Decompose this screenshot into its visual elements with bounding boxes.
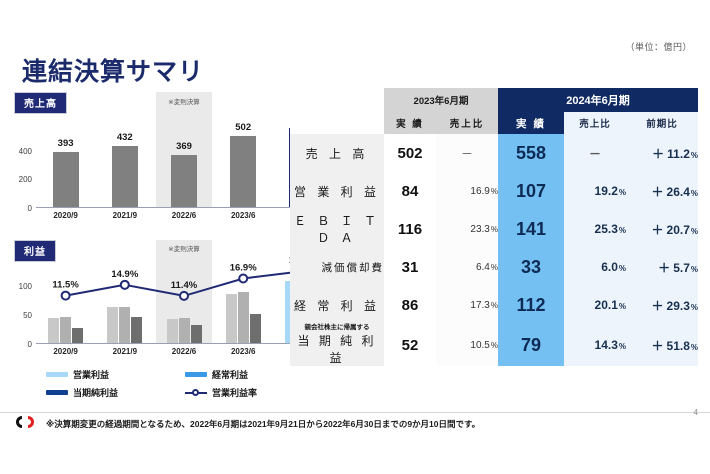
row-label: 営 業 利 益 bbox=[290, 172, 384, 210]
header-new-period: 2024年6月期 bbox=[498, 88, 698, 112]
percent-sign: % bbox=[691, 151, 698, 160]
operating-margin-label: 11.4% bbox=[171, 280, 198, 291]
row-label-note: 親会社株主に帰属する bbox=[290, 324, 384, 331]
sales-x-tick: 2023/6 bbox=[220, 211, 266, 220]
yoy-sign: ＋ bbox=[658, 261, 670, 275]
page-number: 4 bbox=[694, 408, 698, 417]
row-label: Ｅ Ｂ Ｉ Ｔ Ｄ Ａ bbox=[290, 210, 384, 248]
profit-y-tick: 0 bbox=[8, 340, 32, 349]
operating-margin-marker bbox=[239, 274, 247, 282]
profit-bar-line-chart: ※変則決算0501002020/92021/92022/62023/62024/… bbox=[36, 268, 332, 344]
sales-x-tick: 2021/9 bbox=[102, 211, 148, 220]
value: 16.9 bbox=[470, 186, 489, 197]
legend-swatch-icon bbox=[46, 390, 68, 395]
header-new-actual: 実 績 bbox=[498, 112, 564, 134]
cell-new-rate: 20.1% bbox=[564, 286, 626, 324]
legend-item: 営業利益率 bbox=[185, 386, 316, 399]
value: 10.5 bbox=[470, 340, 489, 351]
cell-new-rate: 14.3% bbox=[564, 324, 626, 366]
percent-sign: % bbox=[619, 342, 626, 351]
yoy-value: 29.3 bbox=[667, 299, 690, 313]
yoy-value: 20.7 bbox=[667, 223, 690, 237]
cell-new-yoy: ＋29.3% bbox=[626, 286, 698, 324]
yoy-value: 51.8 bbox=[667, 339, 690, 353]
legend-swatch-icon bbox=[46, 372, 68, 377]
legend-item: 営業利益 bbox=[46, 368, 177, 381]
cell-new-yoy: ＋5.7% bbox=[626, 248, 698, 286]
sales-y-tick: 200 bbox=[8, 175, 32, 184]
sales-chart-plot: ※変則決算02004003932020/94322021/93692022/65… bbox=[36, 122, 332, 208]
legend-label: 当期純利益 bbox=[73, 386, 118, 399]
yoy-sign: ＋ bbox=[652, 223, 664, 237]
cell-old-rate: 10.5% bbox=[436, 324, 498, 366]
operating-margin-label: 16.9% bbox=[230, 262, 257, 273]
cell-old-actual: 31 bbox=[384, 248, 436, 286]
yoy-sign: ＋ bbox=[652, 299, 664, 313]
value: 23.3 bbox=[470, 224, 489, 235]
cell-new-actual: 107 bbox=[498, 172, 564, 210]
row-label: 経 常 利 益 bbox=[290, 286, 384, 324]
cell-new-rate: 25.3% bbox=[564, 210, 626, 248]
header-old-actual: 実 績 bbox=[384, 112, 436, 134]
profit-y-tick: 100 bbox=[8, 282, 32, 291]
cell-new-rate: 19.2% bbox=[564, 172, 626, 210]
header-new-yoy: 前期比 bbox=[626, 112, 698, 134]
yoy-sign: ＋ bbox=[652, 185, 664, 199]
sales-bar-value: 432 bbox=[102, 132, 148, 143]
value: 25.3 bbox=[595, 222, 618, 236]
sales-x-axis bbox=[36, 207, 332, 208]
percent-sign: % bbox=[691, 227, 698, 236]
table-row: 営 業 利 益8416.9%10719.2%＋26.4% bbox=[290, 172, 698, 210]
operating-margin-marker bbox=[121, 281, 129, 289]
yoy-value: 26.4 bbox=[667, 185, 690, 199]
value: 14.3 bbox=[595, 338, 618, 352]
sales-x-tick: 2022/6 bbox=[161, 211, 207, 220]
footer-divider bbox=[0, 412, 710, 413]
legend-item: 経常利益 bbox=[185, 368, 316, 381]
yoy-value: 11.2 bbox=[667, 147, 690, 161]
section-badge-sales: 売上高 bbox=[14, 92, 67, 114]
operating-margin-label: 14.9% bbox=[111, 269, 138, 280]
footer-note: ※決算期変更の経過期間となるため、2022年6月期は2021年9月21日から20… bbox=[46, 418, 480, 430]
header-old-rate: 売上比 bbox=[436, 112, 498, 134]
sales-y-tick: 0 bbox=[8, 204, 32, 213]
profit-x-tick: 2023/6 bbox=[220, 347, 266, 356]
legend-swatch-icon bbox=[185, 372, 207, 377]
cell-old-actual: 502 bbox=[384, 134, 436, 172]
cell-new-actual: 141 bbox=[498, 210, 564, 248]
cell-new-rate: － bbox=[564, 134, 626, 172]
cell-old-actual: 84 bbox=[384, 172, 436, 210]
percent-sign: % bbox=[491, 225, 498, 234]
operating-margin-marker bbox=[62, 292, 70, 300]
header-corner-blank-2 bbox=[290, 112, 384, 134]
table-row: 親会社株主に帰属する当 期 純 利 益5210.5%7914.3%＋51.8% bbox=[290, 324, 698, 366]
percent-sign: % bbox=[691, 303, 698, 312]
cell-old-rate: 16.9% bbox=[436, 172, 498, 210]
sales-chart-band-note: ※変則決算 bbox=[156, 96, 212, 106]
cell-new-yoy: ＋20.7% bbox=[626, 210, 698, 248]
percent-sign: % bbox=[691, 189, 698, 198]
percent-sign: % bbox=[491, 341, 498, 350]
percent-sign: % bbox=[491, 263, 498, 272]
cell-old-actual: 86 bbox=[384, 286, 436, 324]
sales-x-tick: 2020/9 bbox=[43, 211, 89, 220]
slide-canvas: （単位：億円） 連結決算サマリ 売上高 利益 ※変則決算020040039320… bbox=[0, 0, 710, 474]
profit-x-tick: 2020/9 bbox=[43, 347, 89, 356]
table-row: 売 上 高502－558－＋11.2% bbox=[290, 134, 698, 172]
cell-new-rate: 6.0% bbox=[564, 248, 626, 286]
legend-label: 経常利益 bbox=[212, 368, 248, 381]
unit-label: （単位：億円） bbox=[625, 40, 692, 53]
cell-old-rate: 6.4% bbox=[436, 248, 498, 286]
row-label: 減価償却費 bbox=[290, 248, 384, 286]
table-header-year-row: 2023年6月期 2024年6月期 bbox=[290, 88, 698, 112]
header-new-rate: 売上比 bbox=[564, 112, 626, 134]
sales-bar bbox=[112, 146, 138, 208]
cell-new-actual: 79 bbox=[498, 324, 564, 366]
operating-margin-label: 11.5% bbox=[52, 280, 79, 291]
row-label: 売 上 高 bbox=[290, 134, 384, 172]
table-row: 経 常 利 益8617.3%11220.1%＋29.3% bbox=[290, 286, 698, 324]
sales-bar bbox=[171, 155, 197, 208]
operating-margin-line: 11.5%14.9%11.4%16.9%19.2% bbox=[36, 234, 332, 344]
legend-label: 営業利益 bbox=[73, 368, 109, 381]
profit-chart-legend: 営業利益経常利益当期純利益営業利益率 bbox=[46, 368, 316, 399]
cell-old-rate: 17.3% bbox=[436, 286, 498, 324]
value: 6.0 bbox=[601, 260, 618, 274]
cell-new-yoy: ＋51.8% bbox=[626, 324, 698, 366]
page-title: 連結決算サマリ bbox=[22, 52, 204, 88]
profit-chart-plot: ※変則決算0501002020/92021/92022/62023/62024/… bbox=[36, 268, 332, 344]
operating-margin-marker bbox=[180, 292, 188, 300]
yoy-value: 5.7 bbox=[673, 261, 690, 275]
percent-sign: % bbox=[619, 264, 626, 273]
percent-sign: % bbox=[691, 265, 698, 274]
percent-sign: % bbox=[619, 302, 626, 311]
cell-old-rate: － bbox=[436, 134, 498, 172]
sales-bar-chart: ※変則決算02004003932020/94322021/93692022/65… bbox=[36, 122, 332, 208]
percent-sign: % bbox=[491, 301, 498, 310]
sales-y-tick: 400 bbox=[8, 147, 32, 156]
yoy-sign: ＋ bbox=[652, 147, 664, 161]
sales-bar-value: 502 bbox=[220, 122, 266, 133]
cell-old-actual: 52 bbox=[384, 324, 436, 366]
table-row: 減価償却費316.4%336.0%＋5.7% bbox=[290, 248, 698, 286]
sales-bar bbox=[230, 136, 256, 208]
cell-new-yoy: ＋26.4% bbox=[626, 172, 698, 210]
profit-x-tick: 2022/6 bbox=[161, 347, 207, 356]
cell-new-actual: 558 bbox=[498, 134, 564, 172]
header-corner-blank bbox=[290, 88, 384, 112]
legend-item: 当期純利益 bbox=[46, 386, 177, 399]
sales-bar bbox=[53, 152, 79, 208]
value: 17.3 bbox=[470, 300, 489, 311]
percent-sign: % bbox=[619, 188, 626, 197]
table-header: 2023年6月期 2024年6月期 実 績 売上比 実 績 売上比 前期比 bbox=[290, 88, 698, 134]
profit-y-tick: 50 bbox=[8, 311, 32, 320]
profit-x-tick: 2021/9 bbox=[102, 347, 148, 356]
legend-line-marker-icon bbox=[185, 389, 207, 396]
company-logo-icon bbox=[14, 414, 40, 430]
cell-new-yoy: ＋11.2% bbox=[626, 134, 698, 172]
table-header-sub-row: 実 績 売上比 実 績 売上比 前期比 bbox=[290, 112, 698, 134]
percent-sign: % bbox=[491, 187, 498, 196]
sales-bar-value: 393 bbox=[43, 138, 89, 149]
table-row: Ｅ Ｂ Ｉ Ｔ Ｄ Ａ11623.3%14125.3%＋20.7% bbox=[290, 210, 698, 248]
sales-bar-value: 369 bbox=[161, 141, 207, 152]
value: 19.2 bbox=[595, 184, 618, 198]
value: 6.4 bbox=[476, 262, 490, 273]
cell-new-actual: 33 bbox=[498, 248, 564, 286]
cell-old-actual: 116 bbox=[384, 210, 436, 248]
header-old-period: 2023年6月期 bbox=[384, 88, 498, 112]
percent-sign: % bbox=[691, 343, 698, 352]
percent-sign: % bbox=[619, 226, 626, 235]
yoy-sign: ＋ bbox=[652, 339, 664, 353]
financial-summary-table: 2023年6月期 2024年6月期 実 績 売上比 実 績 売上比 前期比 売 … bbox=[290, 88, 698, 366]
cell-old-rate: 23.3% bbox=[436, 210, 498, 248]
cell-new-actual: 112 bbox=[498, 286, 564, 324]
row-label: 親会社株主に帰属する当 期 純 利 益 bbox=[290, 324, 384, 366]
legend-label: 営業利益率 bbox=[212, 386, 257, 399]
row-label-main: 当 期 純 利 益 bbox=[290, 332, 384, 366]
table-body: 売 上 高502－558－＋11.2%営 業 利 益8416.9%10719.2… bbox=[290, 134, 698, 366]
profit-x-axis bbox=[36, 343, 332, 344]
value: 20.1 bbox=[595, 298, 618, 312]
